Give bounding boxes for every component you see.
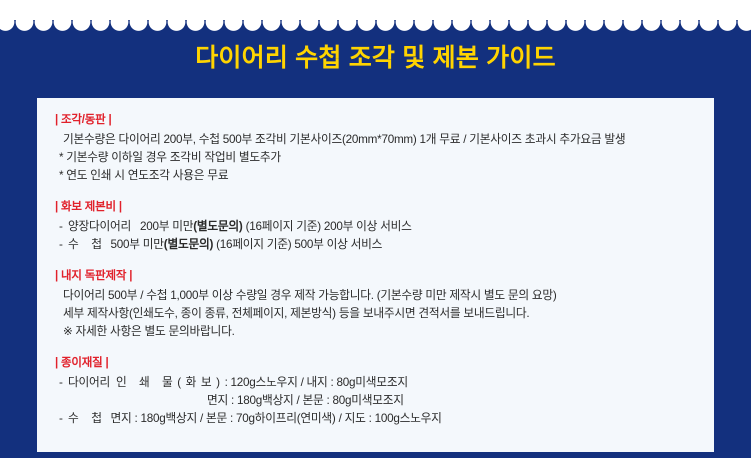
bullet-dash-icon: -: [59, 218, 68, 236]
section-custom-inner-heading: | 내지 독판제작 |: [55, 268, 700, 285]
binding-row-hardcover-qty: 200부 미만: [140, 220, 193, 233]
paper-row-diary-sub: 인 쇄 물(화보): [116, 376, 225, 389]
paper-row-notebook: -수첩면지 : 180g백상지 / 본문 : 70g하이프리(연미색) / 지도…: [55, 410, 700, 428]
binding-row-notebook-label-a: 수: [68, 238, 91, 251]
scalloped-edge-decoration: [0, 20, 751, 32]
paper-row-diary-value: : 120g스노우지 / 내지 : 80g미색모조지: [225, 376, 408, 389]
section-engraving-line-3: * 연도 인쇄 시 연도조각 사용은 무료: [55, 167, 700, 185]
binding-row-hardcover-note: (별도문의): [193, 220, 242, 233]
section-custom-inner-line-3: ※ 자세한 사항은 별도 문의바랍니다.: [55, 323, 700, 341]
content-card: | 조각/동판 | 기본수량은 다이어리 200부, 수첩 500부 조각비 기…: [37, 98, 714, 452]
section-paper-material: | 종이재질 | -다이어리 인 쇄 물(화보): 120g스노우지 / 내지 …: [55, 355, 700, 428]
content-card-inner: | 조각/동판 | 기본수량은 다이어리 200부, 수첩 500부 조각비 기…: [55, 112, 700, 428]
bullet-dash-icon: -: [59, 236, 68, 254]
section-engraving-heading: | 조각/동판 |: [55, 112, 700, 129]
bullet-dash-icon: -: [59, 410, 68, 428]
section-binding-cost: | 화보 제본비 | -양장다이어리 200부 미만(별도문의) (16페이지 …: [55, 199, 700, 254]
paper-row-notebook-value: 면지 : 180g백상지 / 본문 : 70g하이프리(연미색) / 지도 : …: [111, 412, 442, 425]
section-custom-inner-line-1: 다이어리 500부 / 수첩 1,000부 이상 수량일 경우 제작 가능합니다…: [55, 287, 700, 305]
paper-row-notebook-label-b: 첩: [91, 412, 110, 425]
binding-row-notebook-note: (별도문의): [164, 238, 213, 251]
section-binding-cost-heading: | 화보 제본비 |: [55, 199, 700, 216]
bullet-dash-icon: -: [59, 374, 68, 392]
section-custom-inner-line-2: 세부 제작사항(인쇄도수, 종이 종류, 전체페이지, 제본방식) 등을 보내주…: [55, 305, 700, 323]
paper-row-diary-label: 다이어리: [68, 376, 110, 389]
section-paper-material-heading: | 종이재질 |: [55, 355, 700, 372]
section-engraving-line-2: * 기본수량 이하일 경우 조각비 작업비 별도추가: [55, 149, 700, 167]
section-engraving: | 조각/동판 | 기본수량은 다이어리 200부, 수첩 500부 조각비 기…: [55, 112, 700, 185]
section-custom-inner: | 내지 독판제작 | 다이어리 500부 / 수첩 1,000부 이상 수량일…: [55, 268, 700, 341]
blue-banner-panel: 다이어리 수첩 조각 및 제본 가이드 | 조각/동판 | 기본수량은 다이어리…: [0, 20, 751, 458]
binding-row-notebook-label-b: 첩: [91, 238, 110, 251]
paper-row-diary-line2: 면지 : 180g백상지 / 본문 : 80g미색모조지: [55, 392, 700, 410]
binding-row-hardcover-label: 양장다이어리: [68, 220, 131, 233]
paper-row-notebook-label-a: 수: [68, 412, 91, 425]
binding-row-hardcover: -양장다이어리 200부 미만(별도문의) (16페이지 기준) 200부 이상…: [55, 218, 700, 236]
page-title: 다이어리 수첩 조각 및 제본 가이드: [0, 38, 751, 74]
section-engraving-line-1: 기본수량은 다이어리 200부, 수첩 500부 조각비 기본사이즈(20mm*…: [55, 131, 700, 149]
page-root: 다이어리 수첩 조각 및 제본 가이드 | 조각/동판 | 기본수량은 다이어리…: [0, 0, 751, 473]
binding-row-notebook-qty: 500부 미만: [111, 238, 164, 251]
paper-row-diary: -다이어리 인 쇄 물(화보): 120g스노우지 / 내지 : 80g미색모조…: [55, 374, 700, 392]
binding-row-hardcover-detail: (16페이지 기준) 200부 이상 서비스: [246, 220, 412, 233]
binding-row-notebook: -수첩500부 미만(별도문의) (16페이지 기준) 500부 이상 서비스: [55, 236, 700, 254]
binding-row-notebook-detail: (16페이지 기준) 500부 이상 서비스: [216, 238, 382, 251]
